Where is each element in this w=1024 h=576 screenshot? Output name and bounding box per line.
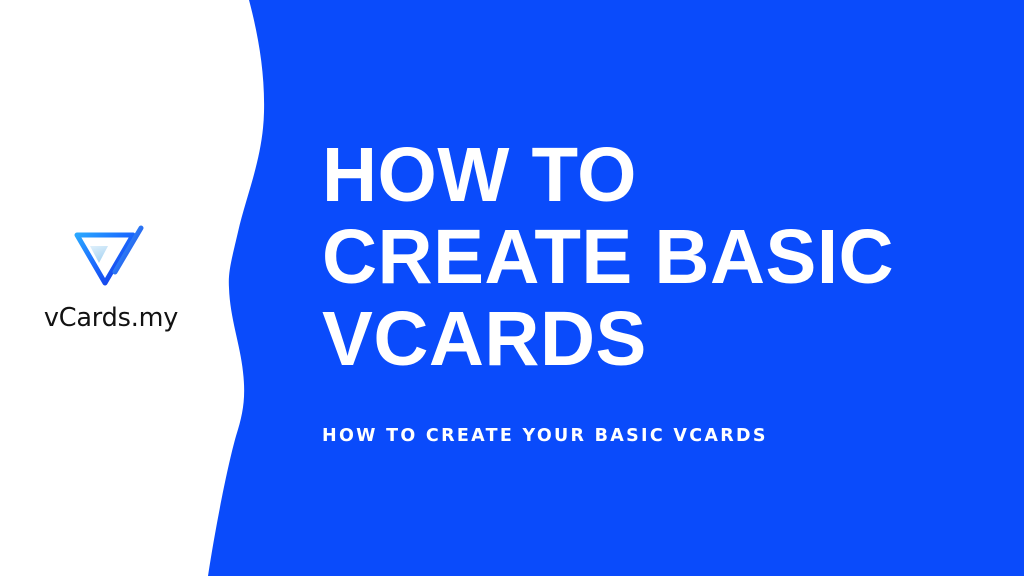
headline-line-1: HOW TO (322, 134, 956, 216)
slide-canvas: vCards.my HOW TO CREATE BASIC VCARDS HOW… (0, 0, 1024, 576)
headline-line-2: CREATE BASIC (322, 216, 956, 298)
page-subtitle: HOW TO CREATE YOUR BASIC VCARDS (322, 424, 768, 448)
brand-wordmark: vCards.my (44, 306, 178, 332)
brand-block: vCards.my (0, 222, 222, 342)
vcards-triangle-logo-icon (71, 222, 151, 292)
headline-line-3: VCARDS (322, 298, 956, 380)
page-title: HOW TO CREATE BASIC VCARDS (322, 134, 962, 380)
